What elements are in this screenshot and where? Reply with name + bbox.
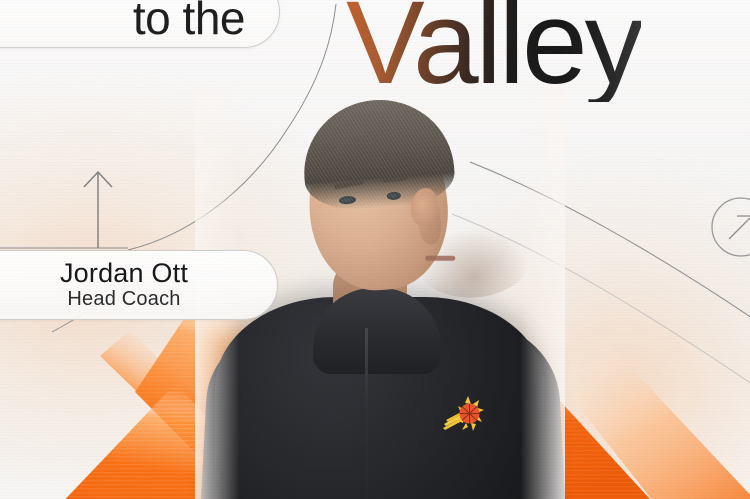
name-plate: Jordan Ott Head Coach <box>0 250 278 320</box>
phoenix-suns-sunburst-logo <box>441 392 487 436</box>
poster-canvas: Valley to the Jordan Ott Head Coach <box>0 0 750 499</box>
jacket-zipper <box>365 328 368 499</box>
wordmark-valley: Valley <box>346 0 641 102</box>
circled-arrow-icon <box>710 196 750 258</box>
coach-name: Jordan Ott <box>60 259 188 287</box>
headline-pill: to the <box>0 0 280 48</box>
coach-title: Head Coach <box>67 287 180 311</box>
headline-pill-label: to the <box>133 0 245 41</box>
